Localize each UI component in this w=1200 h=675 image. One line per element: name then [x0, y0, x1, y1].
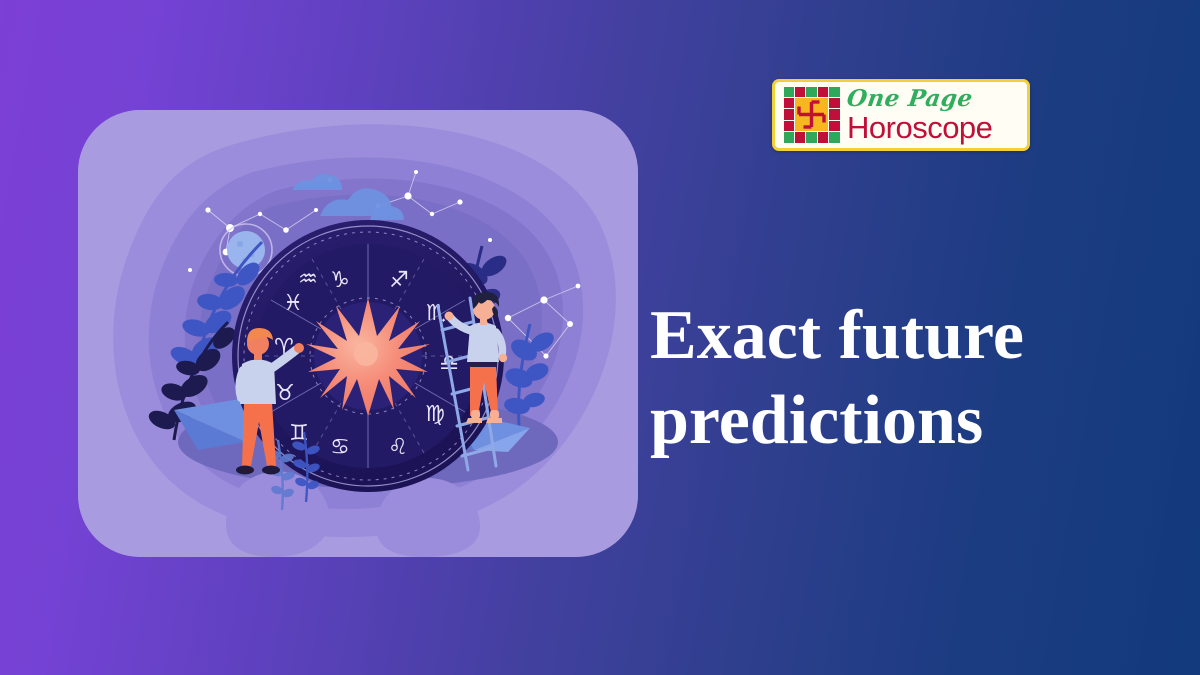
horoscope-banner: ♑ ♐ ♏ ♎ ♍ ♌ ♋ ♊ ♉ ♈ ♓ ♒ [0, 0, 1200, 675]
zodiac-glyph-virgo: ♍ [425, 402, 445, 427]
zodiac-wheel-illustration: ♑ ♐ ♏ ♎ ♍ ♌ ♋ ♊ ♉ ♈ ♓ ♒ [78, 110, 638, 557]
zodiac-glyph-leo: ♌ [388, 435, 408, 460]
zodiac-glyph-pisces: ♓ [283, 291, 303, 316]
zodiac-glyph-aquarius: ♒ [298, 267, 318, 292]
logo-wordmark: One Page Horoscope [847, 87, 992, 143]
illustration-card: ♑ ♐ ♏ ♎ ♍ ♌ ♋ ♊ ♉ ♈ ♓ ♒ [78, 110, 638, 557]
page-title: Exact future predictions [650, 293, 1160, 464]
zodiac-glyph-scorpio: ♏ [426, 301, 446, 326]
swastika-grid-icon [783, 86, 841, 144]
zodiac-glyph-cancer: ♋ [330, 435, 350, 460]
zodiac-glyph-capricorn: ♑ [330, 268, 350, 293]
brand-logo[interactable]: One Page Horoscope [772, 79, 1030, 151]
zodiac-glyph-sagittarius: ♐ [389, 268, 409, 293]
logo-line-one-page: One Page [845, 87, 994, 110]
logo-line-horoscope: Horoscope [847, 112, 992, 143]
zodiac-glyph-taurus: ♉ [275, 381, 295, 406]
